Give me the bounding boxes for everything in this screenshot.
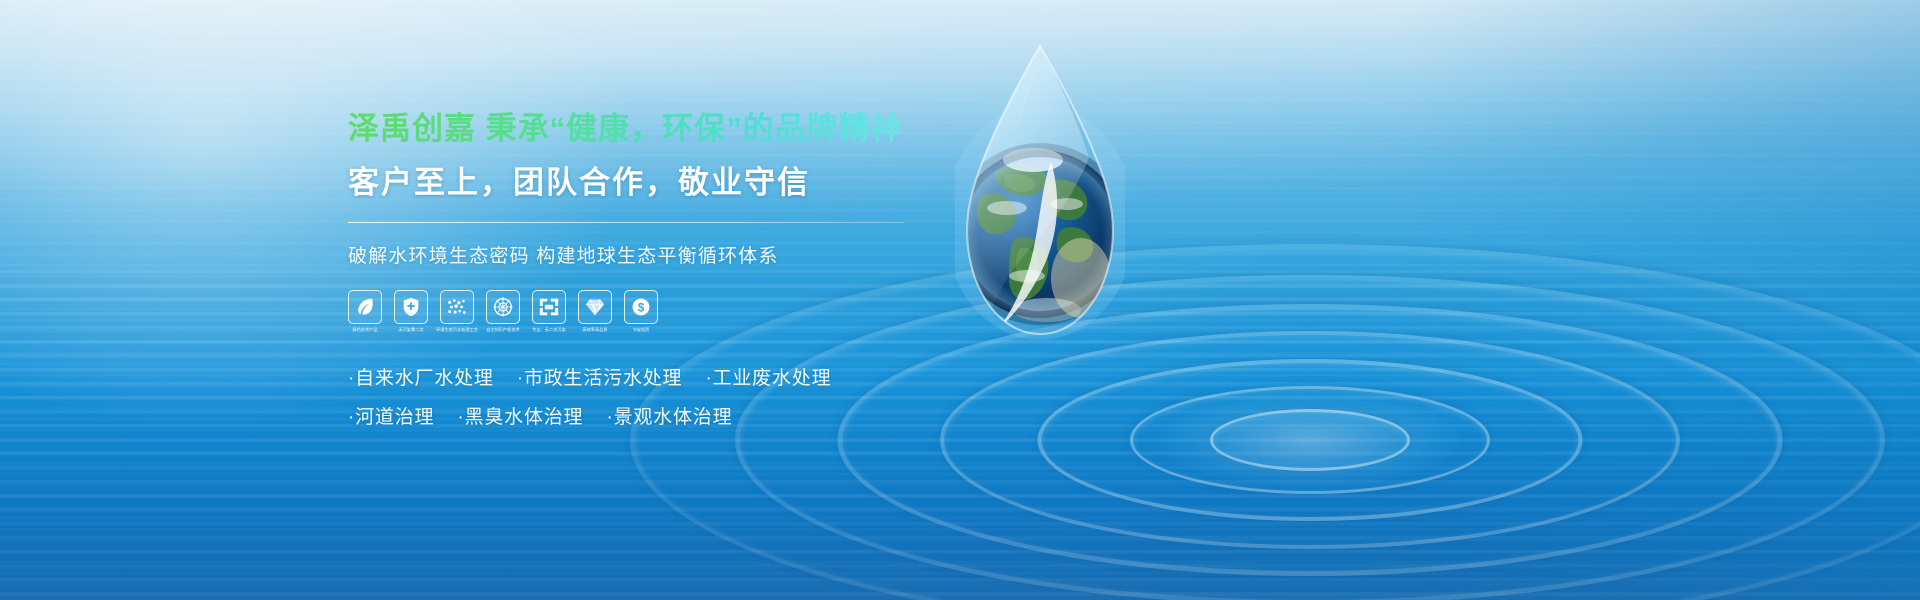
feature-badge-shield[interactable]: 无污染零二次 [394,290,428,333]
svg-text:$: $ [638,300,645,314]
brain-network-icon [486,290,520,324]
service-row-1: ·自来水厂水处理 ·市政生活污水处理 ·工业废水处理 [348,359,968,399]
headline-primary: 泽禹创嘉 秉承“健康，环保”的品牌精神 [348,108,968,150]
feature-icon-row: 绿色技术产品 无污染零二次 [348,290,968,333]
diamond-icon [578,290,612,324]
hero-content: 泽禹创嘉 秉承“健康，环保”的品牌精神 客户至上，团队合作，敬业守信 破解水环境… [348,108,968,438]
hero-banner: 泽禹创嘉 秉承“健康，环保”的品牌精神 客户至上，团队合作，敬业守信 破解水环境… [0,0,1920,600]
earth-globe [956,46,1124,328]
feature-label: 专业、无二次污染 [532,328,566,333]
droplet-svg [955,42,1125,342]
bracket-frame-icon [532,290,566,324]
divider [348,222,904,223]
feature-badge-brain[interactable]: 自主知识产权技术 [486,290,520,333]
water-droplet-with-earth [955,42,1125,342]
service-item: ·自来水厂水处理 [348,368,494,389]
service-item: ·黑臭水体治理 [457,407,583,428]
feature-label: 高效率高品质 [582,328,607,333]
shield-plus-icon [394,290,428,324]
feature-label: 无污染零二次 [398,328,423,333]
feature-label: 绿色技术产品 [352,328,377,333]
feature-label: 环境生态污水处理工艺 [436,328,478,333]
service-item: ·市政生活污水处理 [517,368,683,389]
service-item: ·景观水体治理 [606,407,732,428]
feature-badge-dollar[interactable]: $ 节省投资 [624,290,658,333]
feature-badge-leaf[interactable]: 绿色技术产品 [348,290,382,333]
hero-subtitle: 破解水环境生态密码 构建地球生态平衡循环体系 [348,241,968,268]
feature-badge-molecule[interactable]: 环境生态污水处理工艺 [440,290,474,333]
feature-badge-diamond[interactable]: 高效率高品质 [578,290,612,333]
feature-label: 自主知识产权技术 [486,328,520,333]
leaf-feather-icon [348,290,382,324]
feature-label: 节省投资 [633,328,650,333]
service-item: ·工业废水处理 [705,368,831,389]
headline-secondary: 客户至上，团队合作，敬业守信 [348,162,968,204]
feature-badge-bracket[interactable]: 专业、无二次污染 [532,290,566,333]
service-item: ·河道治理 [348,407,434,428]
service-list: ·自来水厂水处理 ·市政生活污水处理 ·工业废水处理 ·河道治理 ·黑臭水体治理… [348,359,968,439]
molecule-dots-icon [440,290,474,324]
dollar-circle-icon: $ [624,290,658,324]
service-row-2: ·河道治理 ·黑臭水体治理 ·景观水体治理 [348,398,968,438]
